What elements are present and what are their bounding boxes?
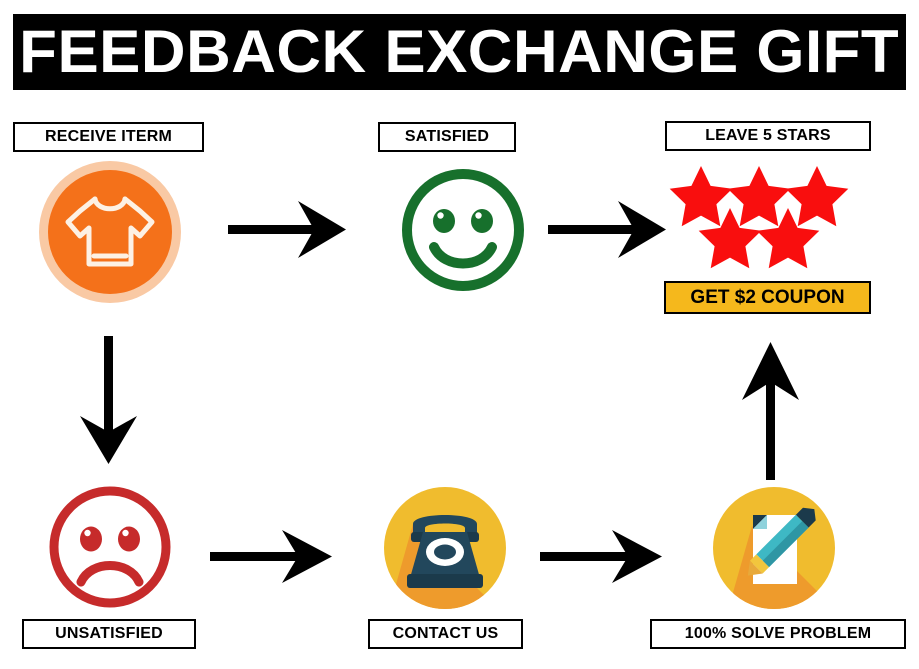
arrow-satisfied-to-stars — [548, 198, 668, 262]
five-stars-icon — [670, 163, 870, 268]
smiley-face-icon — [398, 165, 528, 295]
telephone-icon — [383, 486, 507, 610]
star-glyph — [670, 166, 733, 226]
arrow-receive-to-satisfied — [228, 198, 348, 262]
label-unsatisfied: UNSATISFIED — [22, 619, 196, 649]
label-satisfied: SATISFIED — [378, 122, 516, 152]
feedback-exchange-flowchart: FEEDBACK EXCHANGE GIFT RECEIVE ITERM SAT… — [0, 0, 919, 669]
arrow-unsatisfied-to-contact — [210, 528, 334, 586]
page-title: FEEDBACK EXCHANGE GIFT — [19, 22, 899, 82]
label-receive-item: RECEIVE ITERM — [13, 122, 204, 152]
label-solve-problem: 100% SOLVE PROBLEM — [650, 619, 906, 649]
title-banner: FEEDBACK EXCHANGE GIFT — [13, 14, 906, 90]
sad-face-icon — [45, 482, 175, 612]
document-pencil-icon — [712, 486, 836, 610]
label-contact-us: CONTACT US — [368, 619, 523, 649]
tshirt-icon — [37, 159, 183, 305]
arrow-solve-to-coupon — [738, 340, 804, 480]
star-glyph — [728, 166, 791, 226]
star-glyph — [786, 166, 849, 226]
arrow-contact-to-solve — [540, 528, 664, 586]
arrow-receive-to-unsatisfied — [76, 336, 142, 466]
label-leave-5-stars: LEAVE 5 STARS — [665, 121, 871, 151]
get-coupon-badge[interactable]: GET $2 COUPON — [664, 281, 871, 314]
